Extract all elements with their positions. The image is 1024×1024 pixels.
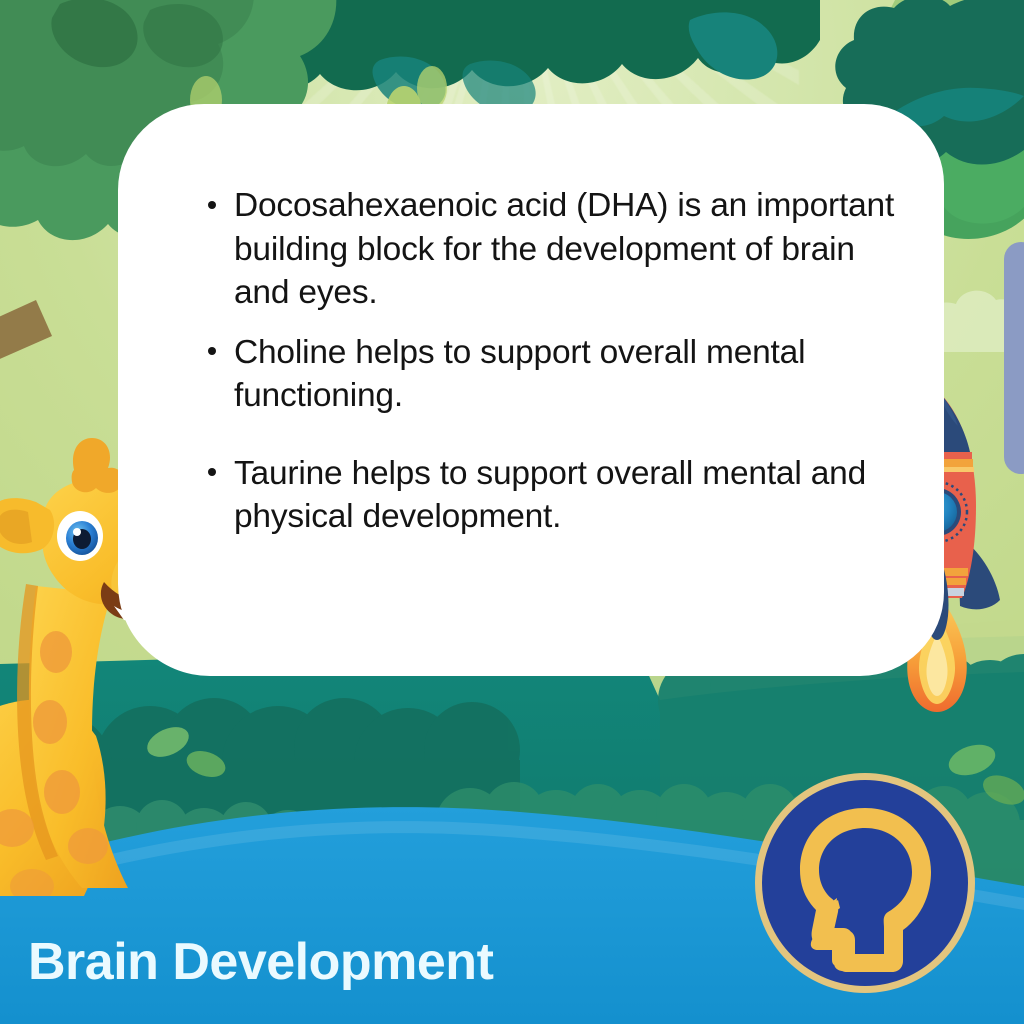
card-body: Docosahexaenoic acid (DHA) is an importa…	[206, 184, 914, 539]
bullet-list: Docosahexaenoic acid (DHA) is an importa…	[206, 184, 914, 539]
bullet-item-dha: Docosahexaenoic acid (DHA) is an importa…	[206, 184, 914, 315]
bullet-item-choline: Choline helps to support overall mental …	[206, 331, 914, 418]
bullet-text: Taurine helps to support overall mental …	[234, 455, 866, 536]
tree-canopy-center	[250, 0, 820, 114]
brain-head-badge	[752, 770, 978, 996]
bullet-dot-icon	[208, 347, 216, 355]
content-card: Docosahexaenoic acid (DHA) is an importa…	[118, 104, 944, 676]
bullet-dot-icon	[208, 201, 216, 209]
bullet-text: Docosahexaenoic acid (DHA) is an importa…	[234, 187, 894, 311]
bullet-text: Choline helps to support overall mental …	[234, 334, 805, 415]
bullet-dot-icon	[208, 468, 216, 476]
page-title: Brain Development	[28, 936, 493, 988]
poster-canvas: Docosahexaenoic acid (DHA) is an importa…	[0, 0, 1024, 1024]
bullet-item-taurine: Taurine helps to support overall mental …	[206, 452, 914, 539]
